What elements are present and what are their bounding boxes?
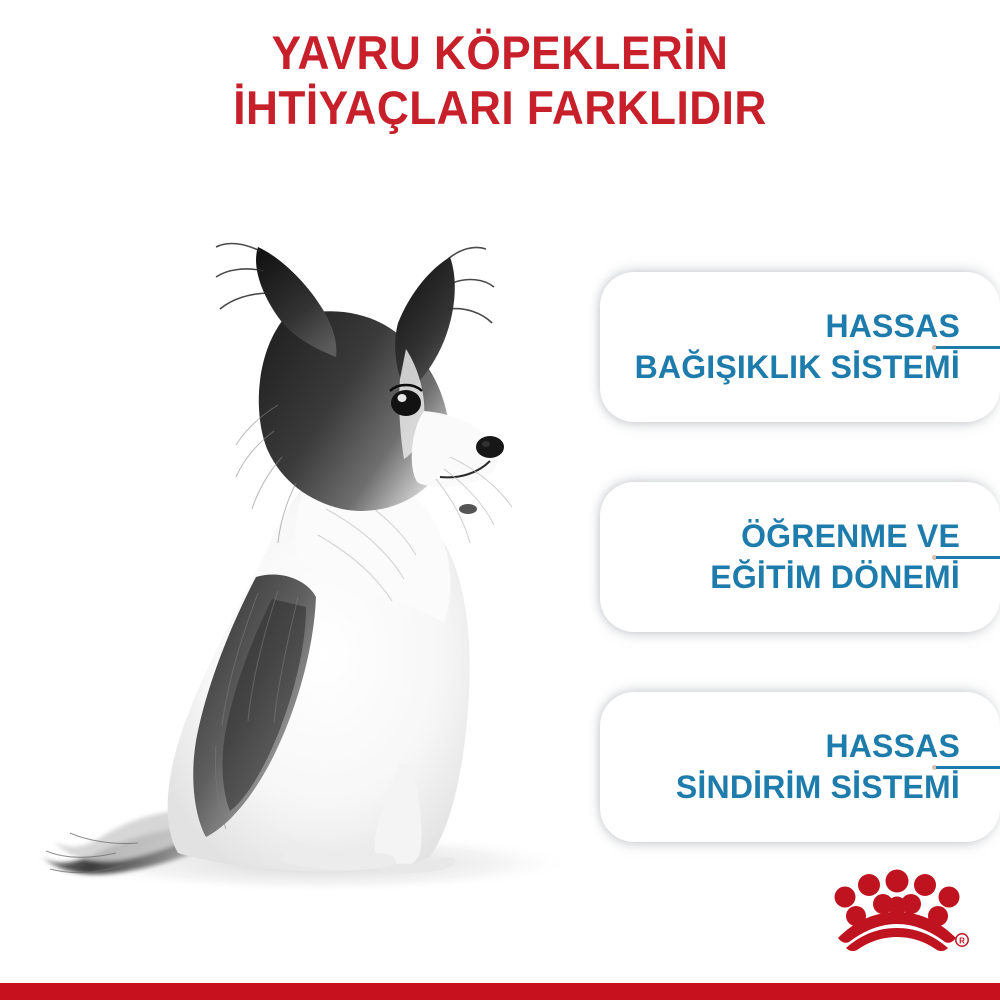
svg-text:R: R xyxy=(959,936,965,945)
registered-trademark-icon: R xyxy=(956,934,968,946)
callout-connector-line xyxy=(936,556,1000,559)
headline-line-2: İHTİYAÇLARI FARKLIDIR xyxy=(30,81,970,136)
callout-line-1: ÖĞRENME VE xyxy=(610,516,960,557)
callout-line-2: SİNDİRİM SİSTEMİ xyxy=(610,767,960,808)
callout-line-2: EĞİTİM DÖNEMİ xyxy=(610,557,960,598)
poster-canvas: YAVRU KÖPEKLERİN İHTİYAÇLARI FARKLIDIR xyxy=(0,0,1000,1000)
callout-connector-line xyxy=(936,346,1000,349)
callout-hassas-sindirim-sistemi: HASSAS SİNDİRİM SİSTEMİ xyxy=(570,692,1000,842)
bottom-red-bar xyxy=(0,983,1000,1000)
callout-label: ÖĞRENME VE EĞİTİM DÖNEMİ xyxy=(610,516,960,598)
royal-canin-crown-logo: R xyxy=(822,868,972,952)
callout-connector-line xyxy=(936,766,1000,769)
chihuahua-puppy-photo xyxy=(20,225,600,905)
callout-hassas-bagisiklik-sistemi: HASSAS BAĞIŞIKLIK SİSTEMİ xyxy=(570,272,1000,422)
callout-label: HASSAS BAĞIŞIKLIK SİSTEMİ xyxy=(610,306,960,388)
page-title: YAVRU KÖPEKLERİN İHTİYAÇLARI FARKLIDIR xyxy=(30,26,970,136)
callout-ogrenme-ve-egitim-donemi: ÖĞRENME VE EĞİTİM DÖNEMİ xyxy=(570,482,1000,632)
callout-line-1: HASSAS xyxy=(610,306,960,347)
callout-line-1: HASSAS xyxy=(610,726,960,767)
callout-line-2: BAĞIŞIKLIK SİSTEMİ xyxy=(610,347,960,388)
callout-label: HASSAS SİNDİRİM SİSTEMİ xyxy=(610,726,960,808)
headline-line-1: YAVRU KÖPEKLERİN xyxy=(30,26,970,81)
